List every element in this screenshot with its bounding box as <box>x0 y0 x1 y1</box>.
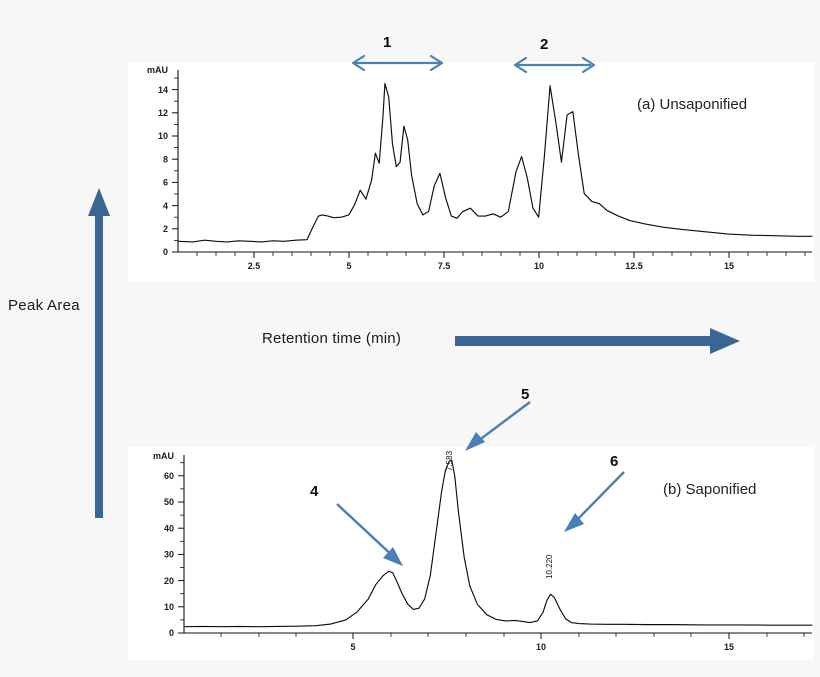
range-arrow-2-icon <box>508 54 600 76</box>
y-tick-label-a-12: 12 <box>158 108 168 118</box>
peak-area-arrow-icon <box>84 188 114 518</box>
pointer-arrow-6-icon <box>560 468 630 536</box>
pointer-arrow-5-icon <box>462 398 534 453</box>
callout-label-1: 1 <box>383 34 391 51</box>
x-axis-ticks-a <box>197 252 805 258</box>
y-axis-labels-a: mAU 14 12 10 8 6 4 2 0 <box>147 65 168 257</box>
chromatogram-panel-saponified: mAU 60 50 40 30 20 10 0 <box>128 447 814 660</box>
global-y-axis-label: Peak Area <box>8 297 80 314</box>
x-tick-label-a-2p5: 2.5 <box>248 261 261 271</box>
pointer-arrow-4-icon <box>333 500 408 570</box>
y-tick-label-b-60: 60 <box>164 471 174 481</box>
chromatogram-b-svg: mAU 60 50 40 30 20 10 0 <box>128 447 814 660</box>
x-tick-label-a-12p5: 12.5 <box>625 261 643 271</box>
y-tick-label-a-8: 8 <box>163 154 168 164</box>
y-tick-label-b-10: 10 <box>164 602 174 612</box>
y-tick-label-b-30: 30 <box>164 550 174 560</box>
x-tick-label-a-15: 15 <box>724 261 734 271</box>
y-tick-label-a-10: 10 <box>158 131 168 141</box>
chromatogram-panel-unsaponified: mAU 14 12 10 8 6 4 2 0 <box>128 62 814 282</box>
panel-caption-saponified: (b) Saponified <box>663 481 756 498</box>
panel-caption-unsaponified: (a) Unsaponified <box>637 96 747 113</box>
y-tick-label-a-14: 14 <box>158 85 168 95</box>
x-axis-labels-b: 5 10 15 <box>350 642 734 652</box>
y-axis-unit-b: mAU <box>153 451 174 461</box>
x-tick-label-a-5: 5 <box>346 261 351 271</box>
chromatogram-a-svg: mAU 14 12 10 8 6 4 2 0 <box>128 62 814 282</box>
retention-time-arrow-icon <box>455 326 740 356</box>
peak-retention-label-secondary: 10.220 <box>545 554 554 579</box>
x-tick-label-b-10: 10 <box>536 642 546 652</box>
y-axis-ticks-a <box>172 78 178 252</box>
peak-retention-label-main: 7.583 <box>445 450 454 471</box>
range-arrow-1-icon <box>345 52 450 74</box>
y-tick-label-b-0: 0 <box>169 628 174 638</box>
x-tick-label-b-15: 15 <box>724 642 734 652</box>
y-tick-label-b-50: 50 <box>164 497 174 507</box>
callout-label-4: 4 <box>310 483 318 500</box>
y-tick-label-a-0: 0 <box>163 247 168 257</box>
y-axis-ticks-b <box>178 463 184 633</box>
y-axis-unit-a: mAU <box>147 65 168 75</box>
x-axis-labels-a: 2.5 5 7.5 10 12.5 15 <box>248 261 734 271</box>
y-tick-label-a-4: 4 <box>163 201 168 211</box>
x-tick-label-a-7p5: 7.5 <box>438 261 451 271</box>
x-tick-label-a-10: 10 <box>534 261 544 271</box>
callout-label-2: 2 <box>540 36 548 53</box>
y-tick-label-b-40: 40 <box>164 523 174 533</box>
global-x-axis-label: Retention time (min) <box>262 330 401 347</box>
y-tick-label-a-2: 2 <box>163 224 168 234</box>
y-tick-label-a-6: 6 <box>163 178 168 188</box>
x-axis-ticks-b <box>221 633 804 639</box>
x-tick-label-b-5: 5 <box>350 642 355 652</box>
y-tick-label-b-20: 20 <box>164 576 174 586</box>
y-axis-labels-b: mAU 60 50 40 30 20 10 0 <box>153 451 174 638</box>
